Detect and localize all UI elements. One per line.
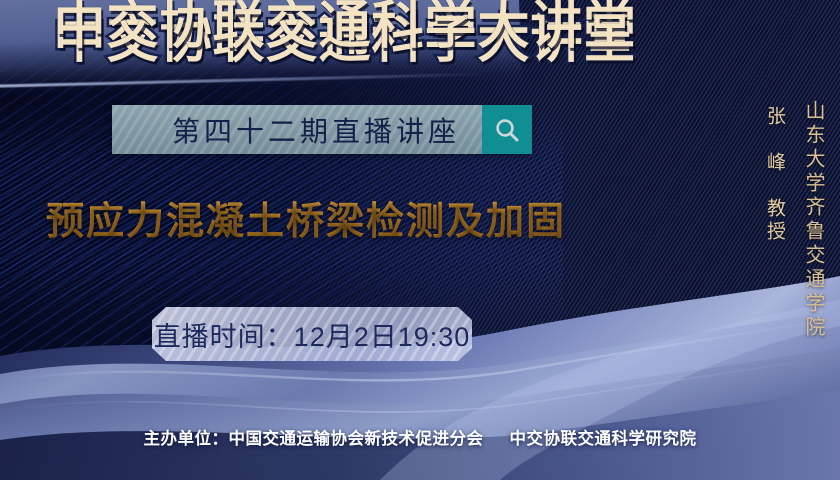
- schedule-pill: 直播时间：12月2日19:30: [152, 307, 472, 361]
- footer-organizer-2: 中交协联交通科学研究院: [510, 430, 697, 448]
- speaker-name-title: 张 峰 教授: [761, 106, 788, 244]
- live-lecture-poster: 中交协联交通科学大讲堂 中交协联交通科学大讲堂 第四十二期直播讲座 预应力混凝土…: [0, 0, 840, 480]
- footer-prefix: 主办单位：: [144, 430, 229, 448]
- speaker-affiliation: 山东大学齐鲁交通学院: [799, 100, 828, 340]
- series-bar: 第四十二期直播讲座: [112, 105, 532, 154]
- series-label: 第四十二期直播讲座: [134, 110, 460, 150]
- search-icon[interactable]: [482, 105, 532, 154]
- poster-title-fill: 中交协联交通科学大讲堂: [0, 0, 840, 52]
- lecture-headline: 预应力混凝土桥梁检测及加固: [46, 190, 566, 245]
- organizer-footer: 主办单位：中国交通运输协会新技术促进分会中交协联交通科学研究院: [0, 425, 840, 449]
- footer-organizer-1: 中国交通运输协会新技术促进分会: [229, 430, 484, 448]
- speaker-portrait-photo: [558, 96, 744, 402]
- schedule-text: 直播时间：12月2日19:30: [154, 315, 471, 354]
- series-bar-body: 第四十二期直播讲座: [112, 105, 482, 154]
